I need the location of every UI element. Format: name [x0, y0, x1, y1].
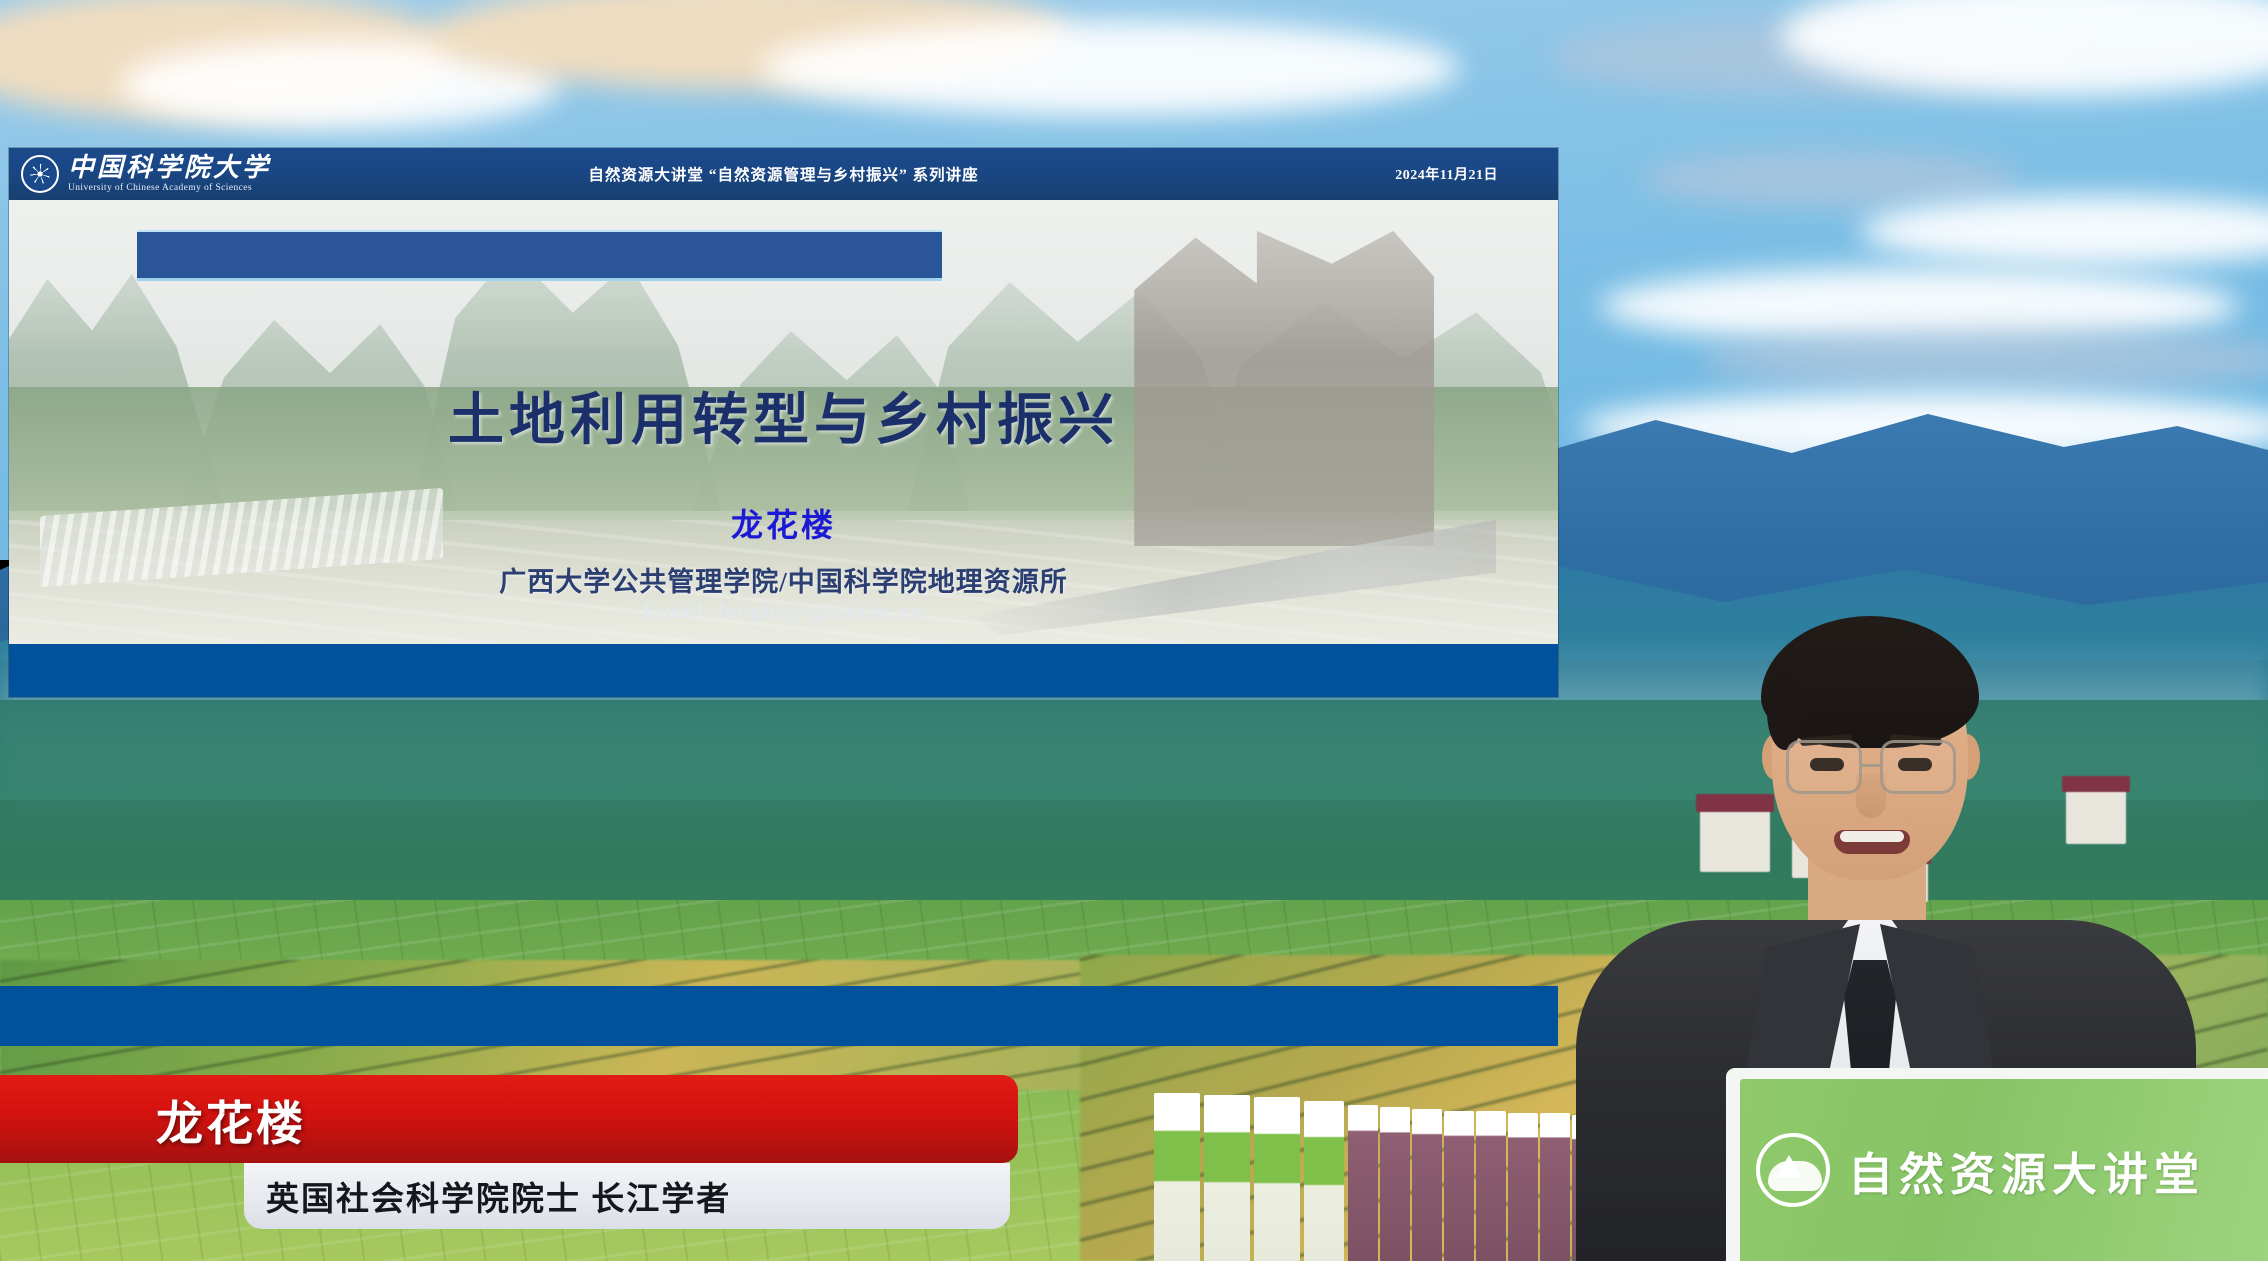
broadcast-stage: 中国科学院大学 University of Chinese Academy of… [0, 0, 2268, 1261]
slide-body: 土地利用转型与乡村振兴 龙花楼 广西大学公共管理学院/中国科学院地理资源所 Em… [9, 200, 1558, 644]
slide-footer-bleed [0, 986, 1558, 1046]
lecture-date: 2024年11月21日 [1395, 164, 1498, 184]
book-purple [1508, 1113, 1538, 1261]
slide-affiliation: 广西大学公共管理学院/中国科学院地理资源所 [9, 560, 1558, 599]
lower-third-credentials: 英国社会科学院院士 长江学者 [266, 1172, 731, 1220]
program-name: 自然资源大讲堂 [1848, 1138, 2205, 1203]
cloud [1700, 330, 2268, 390]
slide-title: 土地利用转型与乡村振兴 [9, 375, 1558, 456]
ucas-logo-en: University of Chinese Academy of Science… [68, 184, 271, 194]
book-green [1254, 1097, 1300, 1261]
book-purple [1476, 1111, 1506, 1261]
presentation-slide[interactable]: 中国科学院大学 University of Chinese Academy of… [9, 148, 1558, 697]
speaker-nose [1856, 774, 1886, 818]
lower-third-name-banner: 龙花楼 [0, 1075, 1018, 1163]
lecture-series-title: 自然资源大讲堂 “自然资源管理与乡村振兴” 系列讲座 [9, 163, 1558, 185]
cloud [760, 20, 1460, 116]
program-brand-panel: 自然资源大讲堂 [1726, 1068, 2268, 1261]
lower-third-credentials-banner: 英国社会科学院院士 长江学者 [244, 1163, 1010, 1229]
lower-third-name: 龙花楼 [156, 1085, 306, 1154]
book-purple [1444, 1111, 1474, 1261]
book-purple [1348, 1105, 1378, 1261]
speaker-hair [1761, 616, 1979, 748]
speaker-teeth [1840, 831, 1904, 842]
book-green [1204, 1095, 1250, 1261]
mountain-circle-icon [1756, 1133, 1830, 1207]
book-purple [1380, 1107, 1410, 1261]
slide-header-bar: 中国科学院大学 University of Chinese Academy of… [9, 148, 1558, 200]
speaker-eyeglass-lens [1880, 740, 1956, 794]
speaker-eyeglass-bridge [1862, 764, 1880, 767]
slide-footer-bar [9, 644, 1558, 697]
book-green [1304, 1101, 1344, 1261]
slide-speaker-name: 龙花楼 [9, 500, 1558, 546]
speaker-eyeglass-lens [1786, 740, 1862, 794]
book-purple [1540, 1113, 1570, 1261]
cloud [1640, 150, 2020, 208]
book-green [1154, 1093, 1200, 1261]
slide-title-decoration-bar [137, 230, 942, 281]
slide-email: Email: longhl@igsnrr.ac.cn [9, 598, 1558, 624]
book-purple [1412, 1109, 1442, 1261]
